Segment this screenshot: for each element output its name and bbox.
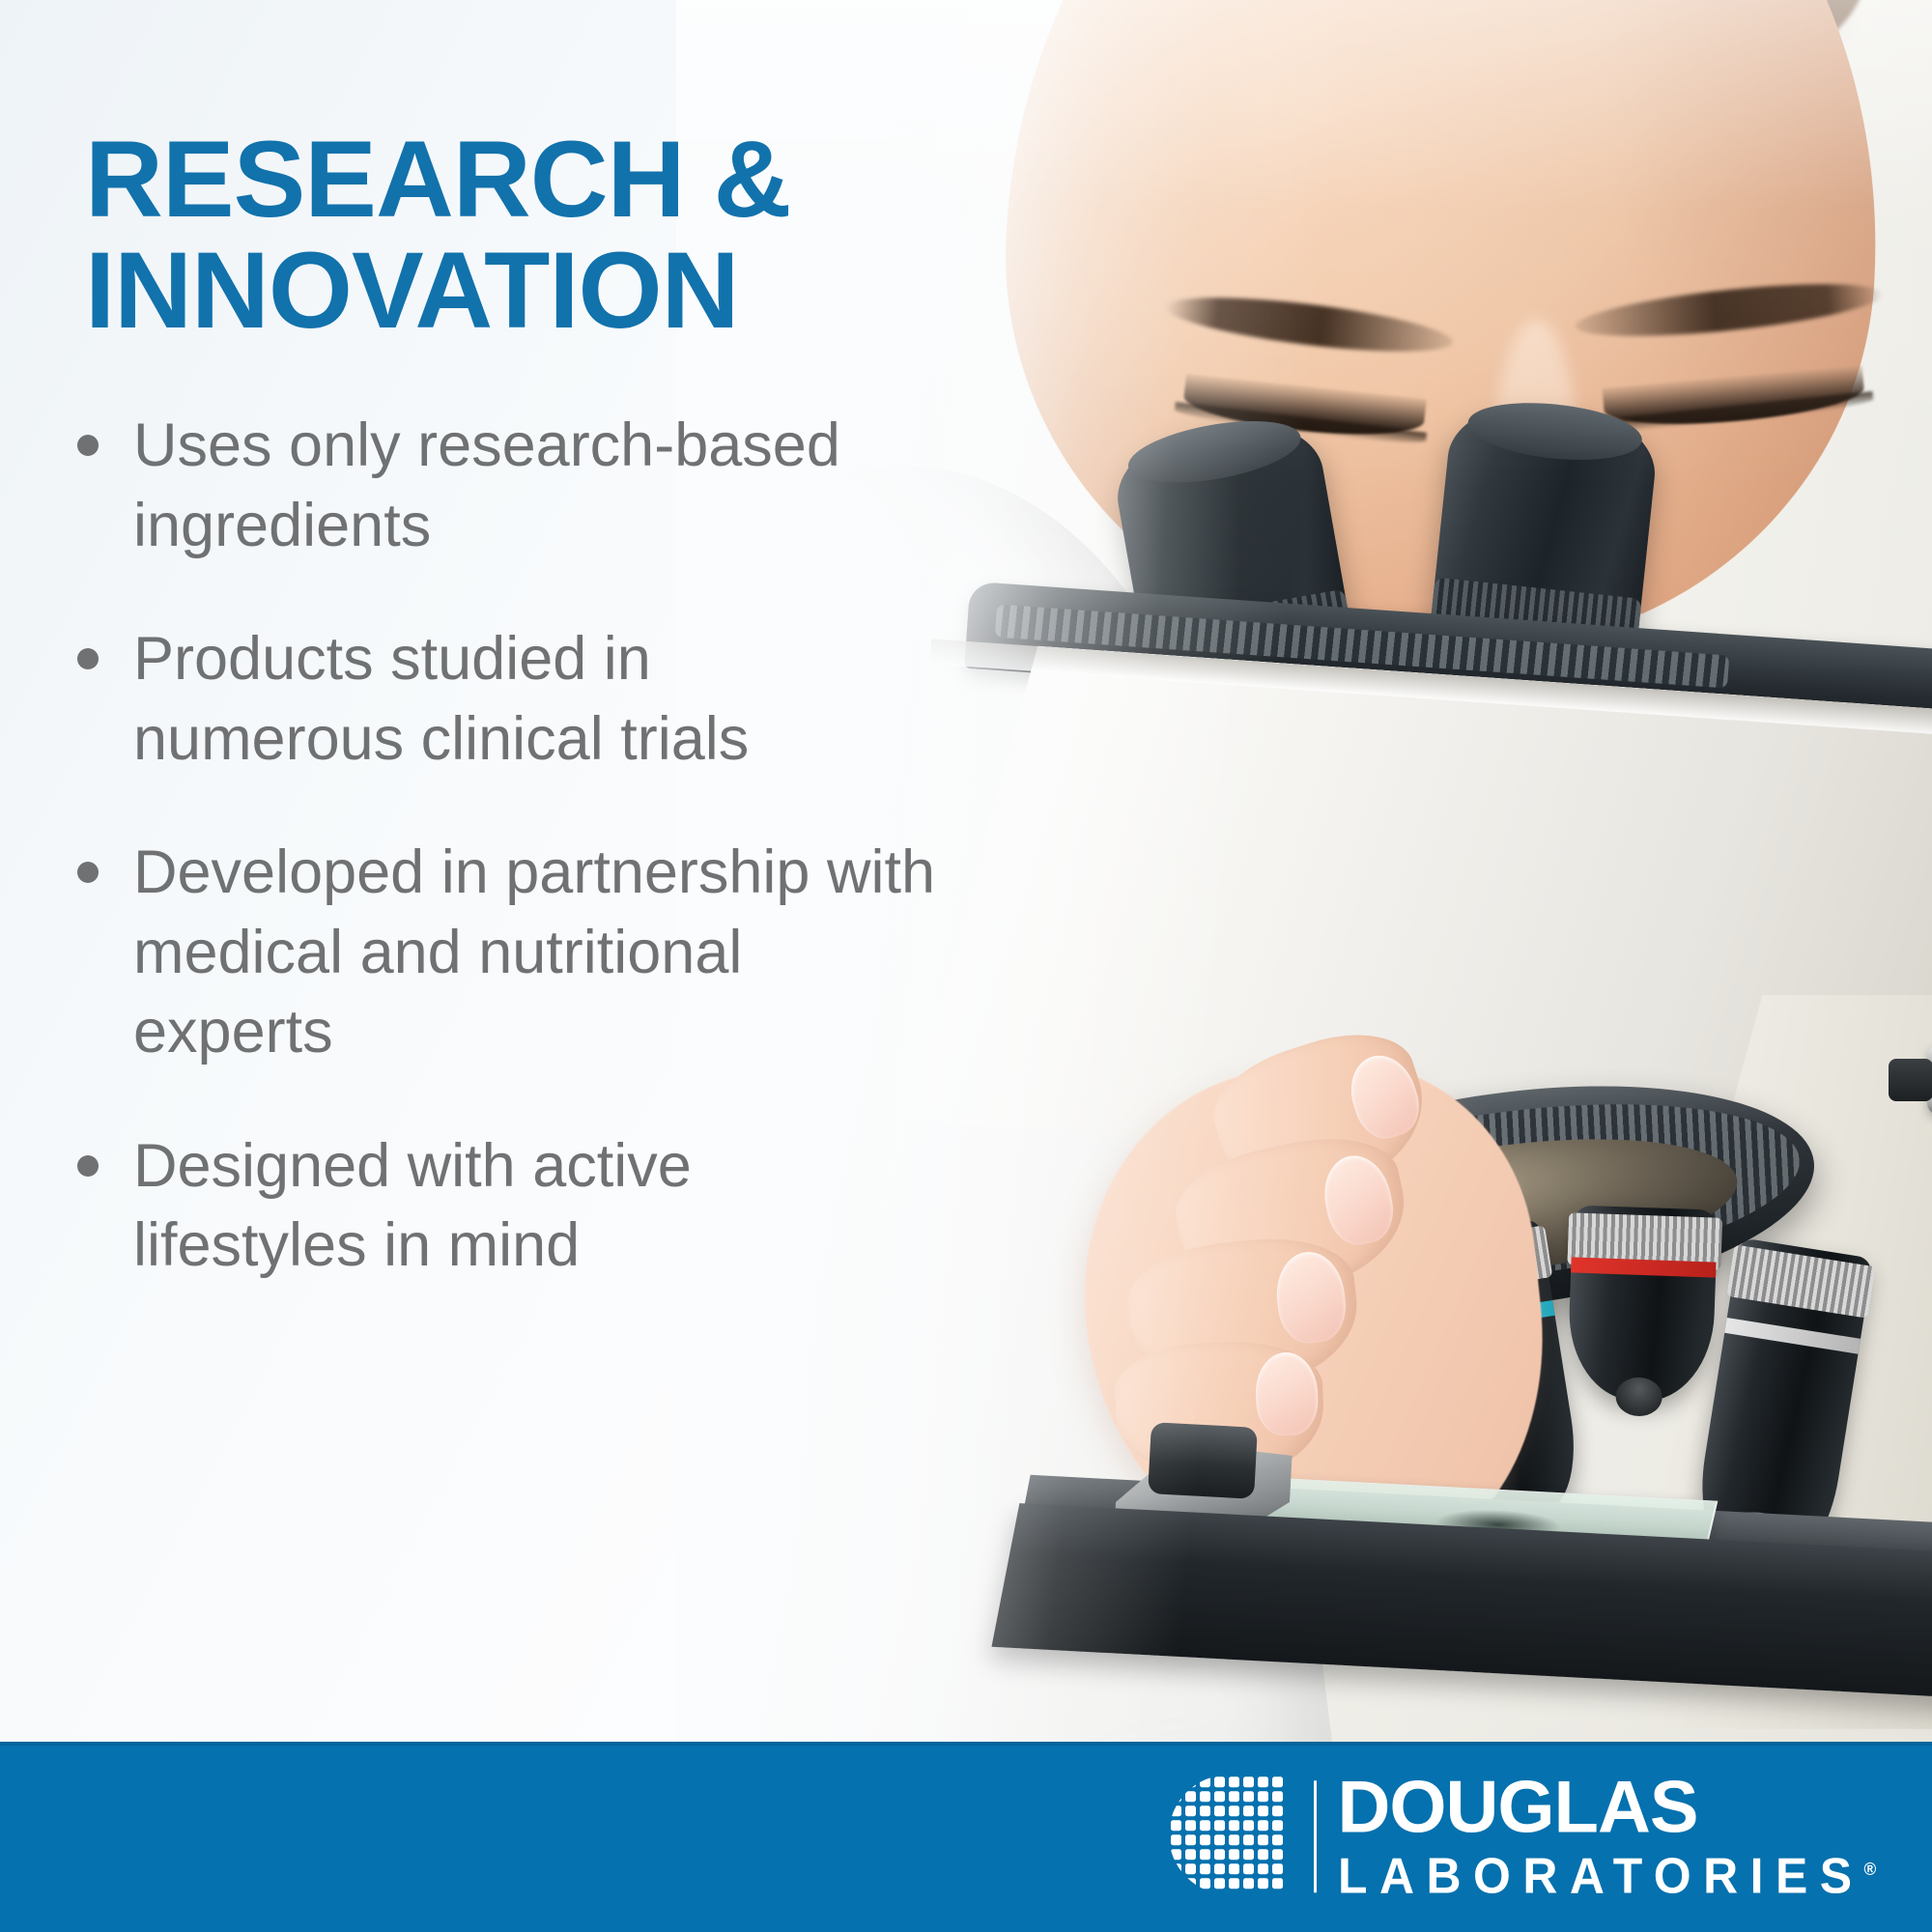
list-item: Designed with active lifestyles in mind	[77, 1126, 937, 1286]
list-item-label: Designed with active lifestyles in mind	[133, 1126, 937, 1286]
objective-band-silver	[1724, 1318, 1861, 1354]
list-item: Developed in partnership with medical an…	[77, 833, 937, 1072]
text-column: RESEARCH & INNOVATION Uses only research…	[0, 0, 966, 1744]
page-title-line-1: RESEARCH &	[85, 119, 791, 240]
logo-brand-sub: LABORATORIES®	[1338, 1851, 1876, 1901]
douglas-laboratories-logo: DOUGLAS LABORATORIES®	[1169, 1773, 1898, 1901]
list-item: Uses only research-based ingredients	[77, 406, 937, 565]
footer-bar: DOUGLAS LABORATORIES®	[0, 1742, 1932, 1932]
dot-grid-circle-icon	[1169, 1776, 1293, 1899]
logo-brand-name: DOUGLAS	[1338, 1773, 1898, 1841]
page-title: RESEARCH & INNOVATION	[85, 124, 935, 347]
focus-knob	[1927, 1045, 1932, 1115]
list-item: Products studied in numerous clinical tr…	[77, 619, 937, 779]
registered-trademark-icon: ®	[1863, 1860, 1876, 1879]
footer-top-edge	[0, 1742, 1932, 1746]
bullet-dot-icon	[77, 435, 99, 456]
logo-brand-sub-text: LABORATORIES	[1338, 1848, 1864, 1904]
list-item-label: Uses only research-based ingredients	[133, 406, 937, 565]
list-item-label: Products studied in numerous clinical tr…	[133, 619, 937, 779]
bullet-dot-icon	[77, 1155, 99, 1177]
objective-collar	[1726, 1244, 1876, 1319]
logo-wordmark: DOUGLAS LABORATORIES®	[1338, 1773, 1898, 1901]
bullet-dot-icon	[77, 862, 99, 883]
bullet-dot-icon	[77, 648, 99, 669]
promo-graphic: | | | | | | RESEARCH & INNOVATION Uses o…	[0, 0, 1932, 1932]
page-title-line-2: INNOVATION	[85, 235, 935, 346]
logo-divider	[1314, 1781, 1317, 1893]
list-item-label: Developed in partnership with medical an…	[133, 833, 937, 1072]
slide-clip-knob	[1148, 1422, 1258, 1499]
feature-list: Uses only research-based ingredients Pro…	[77, 406, 937, 1340]
